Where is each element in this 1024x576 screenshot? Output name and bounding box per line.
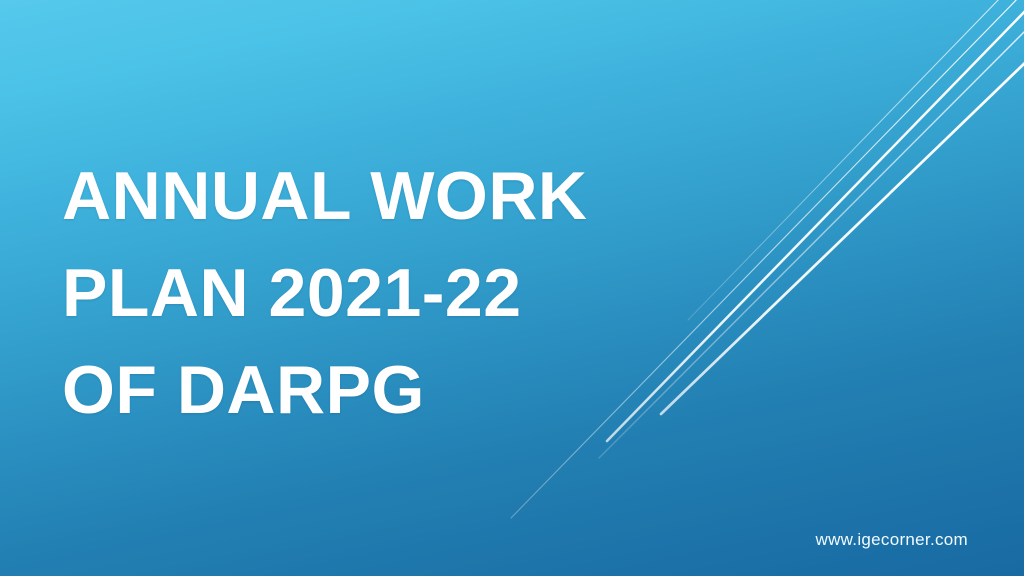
- page-title: ANNUAL WORK PLAN 2021-22 OF DARPG: [62, 148, 702, 439]
- streak-line-5: [661, 58, 1024, 414]
- title-line-2: PLAN 2021-22: [62, 245, 702, 342]
- footer-website-url: www.igecorner.com: [816, 530, 969, 550]
- title-line-3: OF DARPG: [62, 342, 702, 439]
- streak-line-2: [688, 0, 1004, 320]
- title-slide: ANNUAL WORK PLAN 2021-22 OF DARPG www.ig…: [0, 0, 1024, 576]
- title-line-1: ANNUAL WORK: [62, 148, 702, 245]
